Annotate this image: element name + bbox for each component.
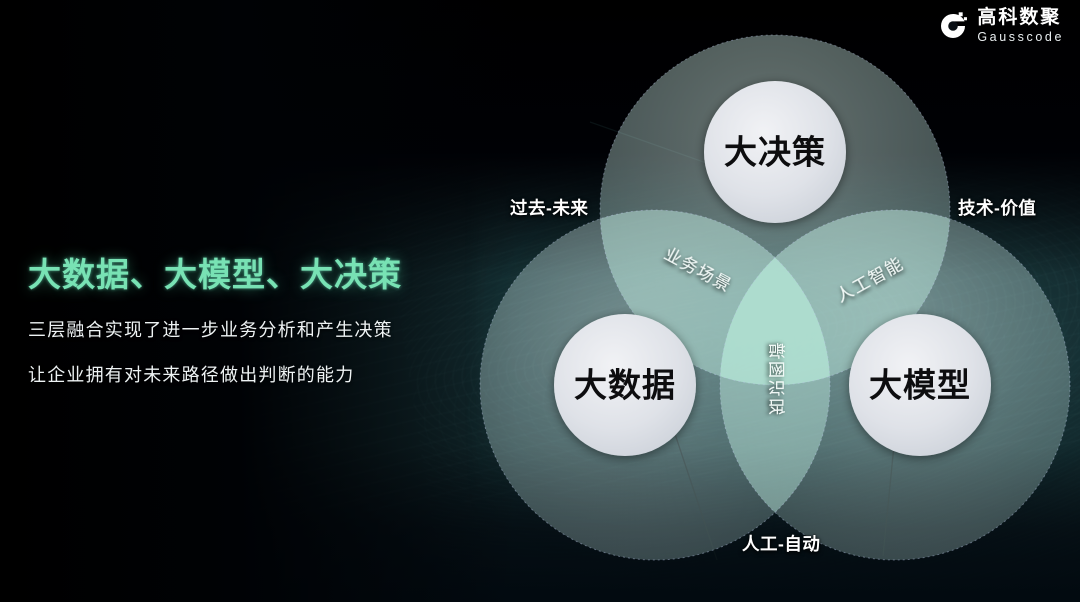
axis-label-tech-value: 技术-价值	[958, 195, 1036, 220]
subtitle-line-1: 三层融合实现了进一步业务分析和产生决策	[28, 316, 458, 342]
subtitle-line-2: 让企业拥有对未来路径做出判断的能力	[28, 361, 458, 387]
left-copy-block: 大数据、大模型、大决策 三层融合实现了进一步业务分析和产生决策 让企业拥有对未来…	[28, 248, 458, 387]
brand-logo: 高科数聚 Gausscode	[938, 8, 1064, 44]
core-label-bigdata: 大数据	[574, 367, 676, 404]
page-title: 大数据、大模型、大决策	[28, 248, 458, 296]
axis-label-past-future: 过去-未来	[510, 195, 588, 220]
venn-diagram: 大决策 大数据 大模型 业务场景 人工智能 知识图谱	[470, 0, 1080, 602]
slide-canvas: 大决策 大数据 大模型 业务场景 人工智能 知识图谱 过去-未来 技术-价值 人…	[0, 0, 1080, 602]
brand-name-cn: 高科数聚	[977, 8, 1064, 27]
intersection-label-knowledge-graph: 知识图谱	[767, 341, 786, 415]
brand-logo-text: 高科数聚 Gausscode	[977, 8, 1064, 44]
gausscode-g-icon	[938, 11, 968, 41]
brand-name-en: Gausscode	[977, 31, 1064, 44]
axis-label-manual-auto: 人工-自动	[742, 531, 820, 556]
core-label-decision: 大决策	[724, 134, 826, 171]
core-label-bigmodel: 大模型	[869, 367, 971, 404]
